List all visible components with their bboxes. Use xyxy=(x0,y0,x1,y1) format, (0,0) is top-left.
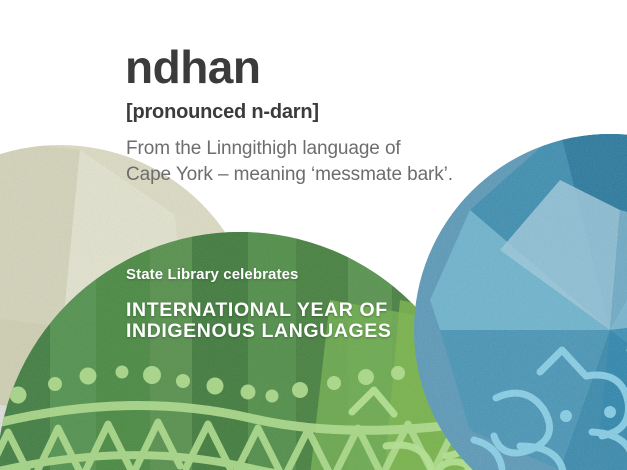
indigenous-languages-poster: ndhan [pronounced n-darn] From the Linng… xyxy=(0,0,627,470)
poster-artwork xyxy=(0,0,627,470)
